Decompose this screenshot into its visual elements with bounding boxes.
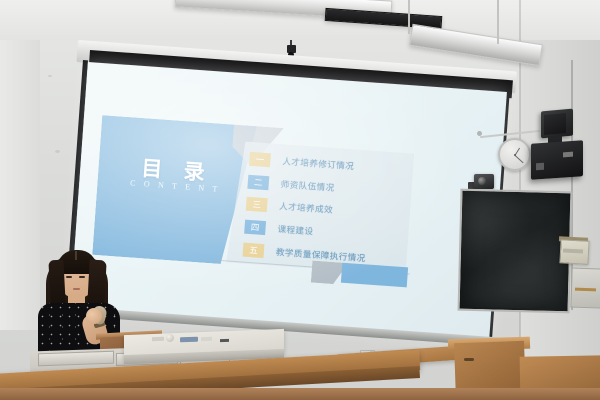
presenter-hair-part xyxy=(75,251,77,260)
wall-camera-lens-icon xyxy=(478,177,486,185)
floor-strip xyxy=(0,388,600,400)
speaker-label-badge xyxy=(536,163,544,171)
presenter-eye-right xyxy=(79,276,85,278)
projection-screen: 目 录 C O N T E N T 一 人才培养修订情况 二 师资队伍情况 三 … xyxy=(78,40,518,315)
agenda-badge-3: 三 xyxy=(246,197,268,212)
agenda-label-2: 师资队伍情况 xyxy=(280,178,335,194)
speaker-brand-logo xyxy=(563,152,573,158)
wall-scuff xyxy=(48,75,52,77)
wall-rod-anchor xyxy=(477,131,482,136)
agenda-label-1: 人才培养修订情况 xyxy=(282,155,355,172)
lectern-port-small[interactable] xyxy=(220,339,229,342)
agenda-badge-4: 四 xyxy=(244,220,266,235)
lectern-vga-port[interactable] xyxy=(180,337,198,343)
blackboard-chalk-dust xyxy=(458,189,569,310)
agenda-badge-2: 二 xyxy=(247,175,269,190)
rack-slot xyxy=(38,351,114,367)
agenda-badge-1: 一 xyxy=(249,152,271,167)
desk-handle xyxy=(464,358,474,361)
light-hanger-rod xyxy=(497,0,499,44)
clock-center-pin xyxy=(514,154,516,156)
light-hanger-rod xyxy=(408,0,410,34)
speaker-large-icon xyxy=(531,140,583,180)
presenter-mouth xyxy=(73,288,80,290)
agenda-label-4: 课程建设 xyxy=(277,223,314,238)
agenda-label-5: 教学质量保障执行情况 xyxy=(275,246,366,264)
slide-agenda-list: 一 人才培养修订情况 二 师资队伍情况 三 人才培养成效 四 课程建设 xyxy=(242,148,420,273)
agenda-label-3: 人才培养成效 xyxy=(279,201,334,217)
presenter-eye-left xyxy=(66,276,72,278)
screen-surface: 目 录 C O N T E N T 一 人才培养修订情况 二 师资队伍情况 三 … xyxy=(70,62,507,339)
presentation-slide: 目 录 C O N T E N T 一 人才培养修订情况 二 师资队伍情况 三 … xyxy=(70,62,507,339)
wall-clock-icon xyxy=(498,138,531,171)
agenda-badge-5: 五 xyxy=(243,242,265,257)
wall-scuff xyxy=(55,150,60,153)
speaker-small-grille xyxy=(544,113,566,135)
lectern-port-audio[interactable] xyxy=(152,337,164,341)
classroom-photo: 目 录 C O N T E N T 一 人才培养修订情况 二 师资队伍情况 三 … xyxy=(0,0,600,400)
lectern-port-blank[interactable] xyxy=(201,337,212,341)
